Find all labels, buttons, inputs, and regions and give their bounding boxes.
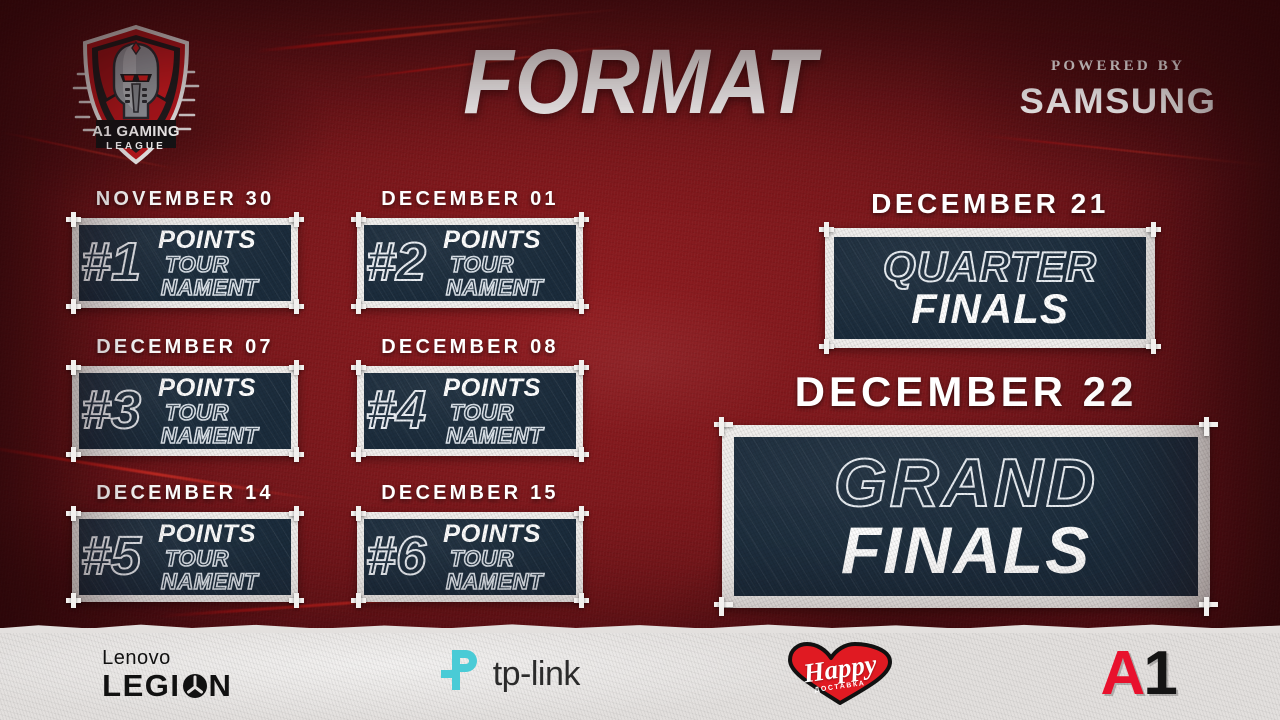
frame-corner-nub	[289, 360, 304, 375]
sponsor-a1[interactable]: A 1	[1101, 643, 1178, 705]
tour-label: TOUR	[165, 254, 258, 276]
points-card-date: DECEMBER 14	[72, 482, 298, 505]
frame-corner-nub	[351, 299, 366, 314]
points-card-number: #5	[81, 532, 159, 582]
quarter-label: QUARTER	[834, 247, 1146, 287]
frame-corner-nub	[289, 506, 304, 521]
frame-corner-nub	[574, 212, 589, 227]
frame-corner-nub	[574, 506, 589, 521]
tour-label: TOUR	[450, 254, 543, 276]
points-card-6[interactable]: DECEMBER 15 #6 POINTS TOUR NAMENT	[357, 482, 583, 602]
nament-label: NAMENT	[161, 277, 258, 299]
frame-corner-nub	[714, 417, 733, 436]
frame-corner-nub	[351, 447, 366, 462]
card-inner: QUARTER FINALS	[834, 237, 1146, 339]
frame-corner-nub	[819, 222, 834, 237]
points-card-2[interactable]: DECEMBER 01 #2 POINTS TOUR NAMENT	[357, 188, 583, 308]
points-label: POINTS	[443, 522, 544, 547]
finals-label: FINALS	[834, 289, 1146, 329]
red-streak	[981, 134, 1280, 167]
points-card-words: POINTS TOUR NAMENT	[444, 376, 543, 447]
a1-letter: A	[1101, 643, 1146, 705]
legion-wordmark: LEGI N	[102, 670, 232, 701]
format-slide: A1 GAMING LEAGUE FORMAT POWERED BY SAMSU…	[0, 0, 1280, 720]
points-card-words: POINTS TOUR NAMENT	[444, 228, 543, 299]
frame-corner-nub	[289, 299, 304, 314]
points-card-number: #6	[366, 532, 444, 582]
grand-finals-card[interactable]: DECEMBER 22 GRAND FINALS	[722, 368, 1210, 608]
card-frame: #6 POINTS TOUR NAMENT	[357, 512, 583, 602]
frame-corner-nub	[574, 593, 589, 608]
frame-corner-nub	[574, 447, 589, 462]
logo-line2: LEAGUE	[70, 141, 202, 152]
card-frame: #3 POINTS TOUR NAMENT	[72, 366, 298, 456]
frame-corner-nub	[1146, 339, 1161, 354]
tp-link-icon	[437, 646, 483, 703]
points-card-date: NOVEMBER 30	[72, 188, 298, 211]
tour-label: TOUR	[450, 548, 543, 570]
samsung-logo: SAMSUNG	[1014, 82, 1222, 122]
points-card-date: DECEMBER 15	[357, 482, 583, 505]
card-frame: #1 POINTS TOUR NAMENT	[72, 218, 298, 308]
card-inner: #6 POINTS TOUR NAMENT	[364, 519, 576, 595]
card-frame: #5 POINTS TOUR NAMENT	[72, 512, 298, 602]
points-card-words: POINTS TOUR NAMENT	[159, 376, 258, 447]
legion-o-icon	[182, 673, 208, 699]
grand-label: GRAND	[734, 451, 1198, 516]
lenovo-wordmark: Lenovo	[102, 647, 232, 670]
quarter-finals-card[interactable]: DECEMBER 21 QUARTER FINALS	[825, 188, 1155, 348]
tour-label: TOUR	[450, 402, 543, 424]
points-label: POINTS	[158, 522, 259, 547]
nament-label: NAMENT	[446, 425, 543, 447]
card-frame: #2 POINTS TOUR NAMENT	[357, 218, 583, 308]
frame-corner-nub	[1199, 597, 1218, 616]
frame-corner-nub	[1199, 417, 1218, 436]
frame-corner-nub	[66, 299, 81, 314]
frame-corner-nub	[289, 593, 304, 608]
sponsor-tp-link[interactable]: tp-link	[437, 646, 580, 703]
card-inner: #2 POINTS TOUR NAMENT	[364, 225, 576, 301]
nament-label: NAMENT	[446, 571, 543, 593]
card-frame: GRAND FINALS	[722, 425, 1210, 608]
card-inner: #5 POINTS TOUR NAMENT	[79, 519, 291, 595]
a1-digit: 1	[1143, 643, 1177, 705]
frame-corner-nub	[714, 597, 733, 616]
points-label: POINTS	[443, 228, 544, 253]
nament-label: NAMENT	[446, 277, 543, 299]
card-frame: #4 POINTS TOUR NAMENT	[357, 366, 583, 456]
card-inner: GRAND FINALS	[734, 437, 1198, 596]
frame-corner-nub	[66, 593, 81, 608]
sponsor-happy[interactable]: Happy ДОСТАВКА	[784, 641, 896, 707]
frame-corner-nub	[351, 593, 366, 608]
frame-corner-nub	[819, 339, 834, 354]
points-card-date: DECEMBER 07	[72, 336, 298, 359]
points-label: POINTS	[158, 376, 259, 401]
sponsor-lenovo-legion[interactable]: Lenovo LEGI N	[102, 647, 232, 701]
legion-text-left: LEGI	[102, 670, 180, 701]
nament-label: NAMENT	[161, 571, 258, 593]
quarter-finals-date: DECEMBER 21	[825, 188, 1155, 220]
frame-corner-nub	[289, 447, 304, 462]
card-inner: #4 POINTS TOUR NAMENT	[364, 373, 576, 449]
powered-by-label: POWERED BY	[1018, 58, 1218, 75]
points-card-date: DECEMBER 08	[357, 336, 583, 359]
card-inner: #3 POINTS TOUR NAMENT	[79, 373, 291, 449]
sponsor-bar: Lenovo LEGI N	[0, 628, 1280, 720]
card-frame: QUARTER FINALS	[825, 228, 1155, 348]
points-card-5[interactable]: DECEMBER 14 #5 POINTS TOUR NAMENT	[72, 482, 298, 602]
points-card-number: #2	[366, 238, 444, 288]
points-card-number: #4	[366, 386, 444, 436]
tour-label: TOUR	[165, 548, 258, 570]
points-card-4[interactable]: DECEMBER 08 #4 POINTS TOUR NAMENT	[357, 336, 583, 456]
points-card-words: POINTS TOUR NAMENT	[444, 522, 543, 593]
points-card-words: POINTS TOUR NAMENT	[159, 228, 258, 299]
powered-by-block: POWERED BY SAMSUNG	[1018, 58, 1218, 122]
finals-label: FINALS	[734, 519, 1198, 582]
nament-label: NAMENT	[161, 425, 258, 447]
points-card-number: #1	[81, 238, 159, 288]
points-card-1[interactable]: NOVEMBER 30 #1 POINTS TOUR NAMENT	[72, 188, 298, 308]
frame-corner-nub	[1146, 222, 1161, 237]
frame-corner-nub	[289, 212, 304, 227]
grand-finals-date: DECEMBER 22	[722, 368, 1210, 416]
points-label: POINTS	[443, 376, 544, 401]
points-card-date: DECEMBER 01	[357, 188, 583, 211]
points-label: POINTS	[158, 228, 259, 253]
frame-corner-nub	[574, 299, 589, 314]
tour-label: TOUR	[165, 402, 258, 424]
points-card-words: POINTS TOUR NAMENT	[159, 522, 258, 593]
frame-corner-nub	[574, 360, 589, 375]
frame-corner-nub	[66, 447, 81, 462]
tp-link-wordmark: tp-link	[493, 655, 580, 694]
points-card-number: #3	[81, 386, 159, 436]
legion-text-right: N	[209, 670, 233, 701]
points-card-3[interactable]: DECEMBER 07 #3 POINTS TOUR NAMENT	[72, 336, 298, 456]
card-inner: #1 POINTS TOUR NAMENT	[79, 225, 291, 301]
